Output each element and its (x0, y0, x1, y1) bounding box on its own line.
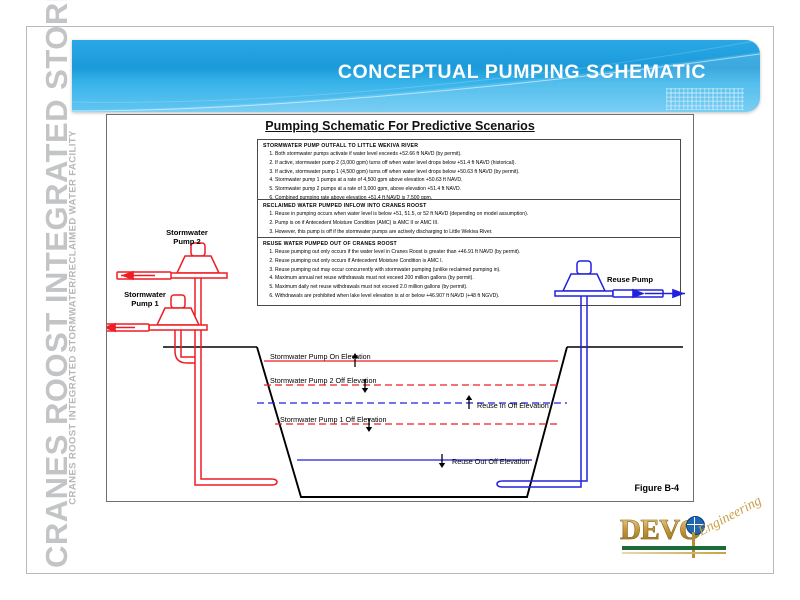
slide-canvas: CRANES ROOST INTEGRATED STORMWATER CRANE… (0, 0, 800, 600)
devo-logo: DEVO Engineering (612, 508, 744, 570)
svg-text:Pump 2: Pump 2 (173, 237, 200, 246)
stormwater-pump-2-body[interactable] (117, 243, 227, 279)
elevation-line-stormwater-pump-1-off: Stormwater Pump 1 Off Elevation (275, 415, 558, 432)
svg-text:Stormwater: Stormwater (166, 228, 208, 237)
elevation-line-stormwater-pump-2-off: Stormwater Pump 2 Off Elevation (264, 376, 558, 393)
drawing-frame: Pumping Schematic For Predictive Scenari… (106, 114, 694, 502)
stormwater-piping (175, 275, 277, 485)
logo-gold-bar (622, 552, 726, 554)
pumping-schematic: Stormwater Pump On Elevation Stormwater … (107, 115, 695, 503)
svg-text:Stormwater: Stormwater (124, 290, 166, 299)
elevation-label: Reuse In Off Elevation (477, 401, 549, 410)
logo-green-bar (622, 546, 726, 550)
elevation-line-reuse-out-off: Reuse Out Off Elevation (297, 454, 532, 468)
elevation-label: Stormwater Pump 2 Off Elevation (270, 376, 377, 385)
elevation-label: Stormwater Pump 1 Off Elevation (280, 415, 387, 424)
stormwater-pump-1-label: Stormwater Pump 1 (124, 290, 166, 308)
reuse-pump-label: Reuse Pump (607, 275, 653, 284)
svg-text:Reuse Pump: Reuse Pump (607, 275, 653, 284)
svg-text:Pump 1: Pump 1 (131, 299, 159, 308)
facility-title-small: CRANES ROOST INTEGRATED STORMWATER/RECLA… (68, 58, 79, 578)
figure-label: Figure B-4 (634, 483, 679, 493)
elevation-line-stormwater-pump-on: Stormwater Pump On Elevation (264, 352, 558, 367)
page-title: CONCEPTUAL PUMPING SCHEMATIC (338, 61, 706, 84)
logo-stem (692, 532, 695, 558)
elevation-line-reuse-in-off: Reuse In Off Elevation (257, 395, 567, 410)
header-banner: CONCEPTUAL PUMPING SCHEMATIC (72, 40, 760, 112)
elevation-label: Reuse Out Off Elevation (452, 457, 529, 466)
banner-dot-pattern (666, 88, 744, 110)
